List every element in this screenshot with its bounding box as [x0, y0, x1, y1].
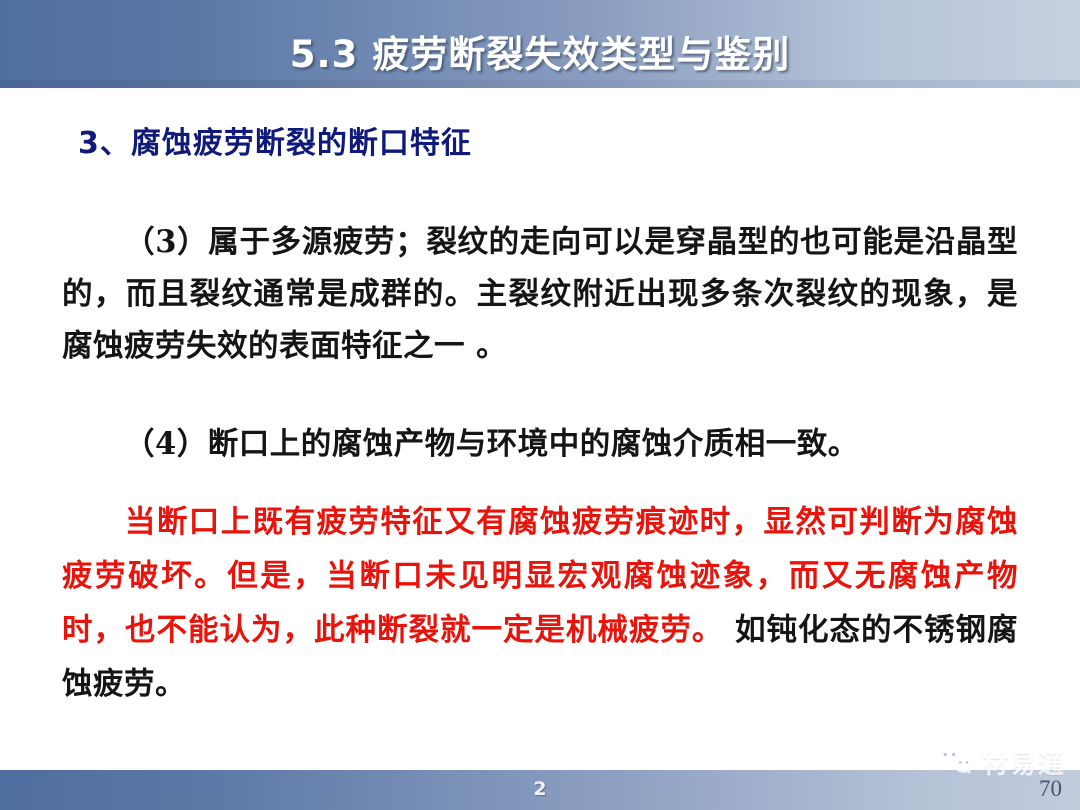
slide-number: 2 [0, 778, 1080, 800]
slide-content: 3、腐蚀疲劳断裂的断口特征 （3）属于多源疲劳；裂纹的走向可以是穿晶型的也可能是… [0, 88, 1080, 770]
wechat-icon [935, 746, 975, 779]
paragraph-item-4-text: （4）断口上的腐蚀产物与环境中的腐蚀介质相一致。 [124, 426, 859, 462]
paragraph-emphasis: 当断口上既有疲劳特征又有腐蚀疲劳痕迹时，显然可判断为腐蚀疲劳破坏。但是，当断口未… [62, 495, 1018, 711]
slide-root: 5.3 疲劳断裂失效类型与鉴别 3、腐蚀疲劳断裂的断口特征 （3）属于多源疲劳；… [0, 0, 1080, 810]
paragraph-item-3-text: （3）属于多源疲劳；裂纹的走向可以是穿晶型的也可能是沿晶型的，而且裂纹通常是成群… [62, 224, 1018, 364]
header-underline [0, 80, 1080, 88]
page-title: 5.3 疲劳断裂失效类型与鉴别 [0, 24, 1080, 78]
watermark-text: 材易通 [982, 744, 1066, 781]
paragraph-item-3: （3）属于多源疲劳；裂纹的走向可以是穿晶型的也可能是沿晶型的，而且裂纹通常是成群… [62, 216, 1018, 372]
watermark: 材易通 [935, 744, 1066, 781]
section-heading: 3、腐蚀疲劳断裂的断口特征 [78, 118, 472, 162]
paragraph-item-4: （4）断口上的腐蚀产物与环境中的腐蚀介质相一致。 [62, 418, 1018, 470]
